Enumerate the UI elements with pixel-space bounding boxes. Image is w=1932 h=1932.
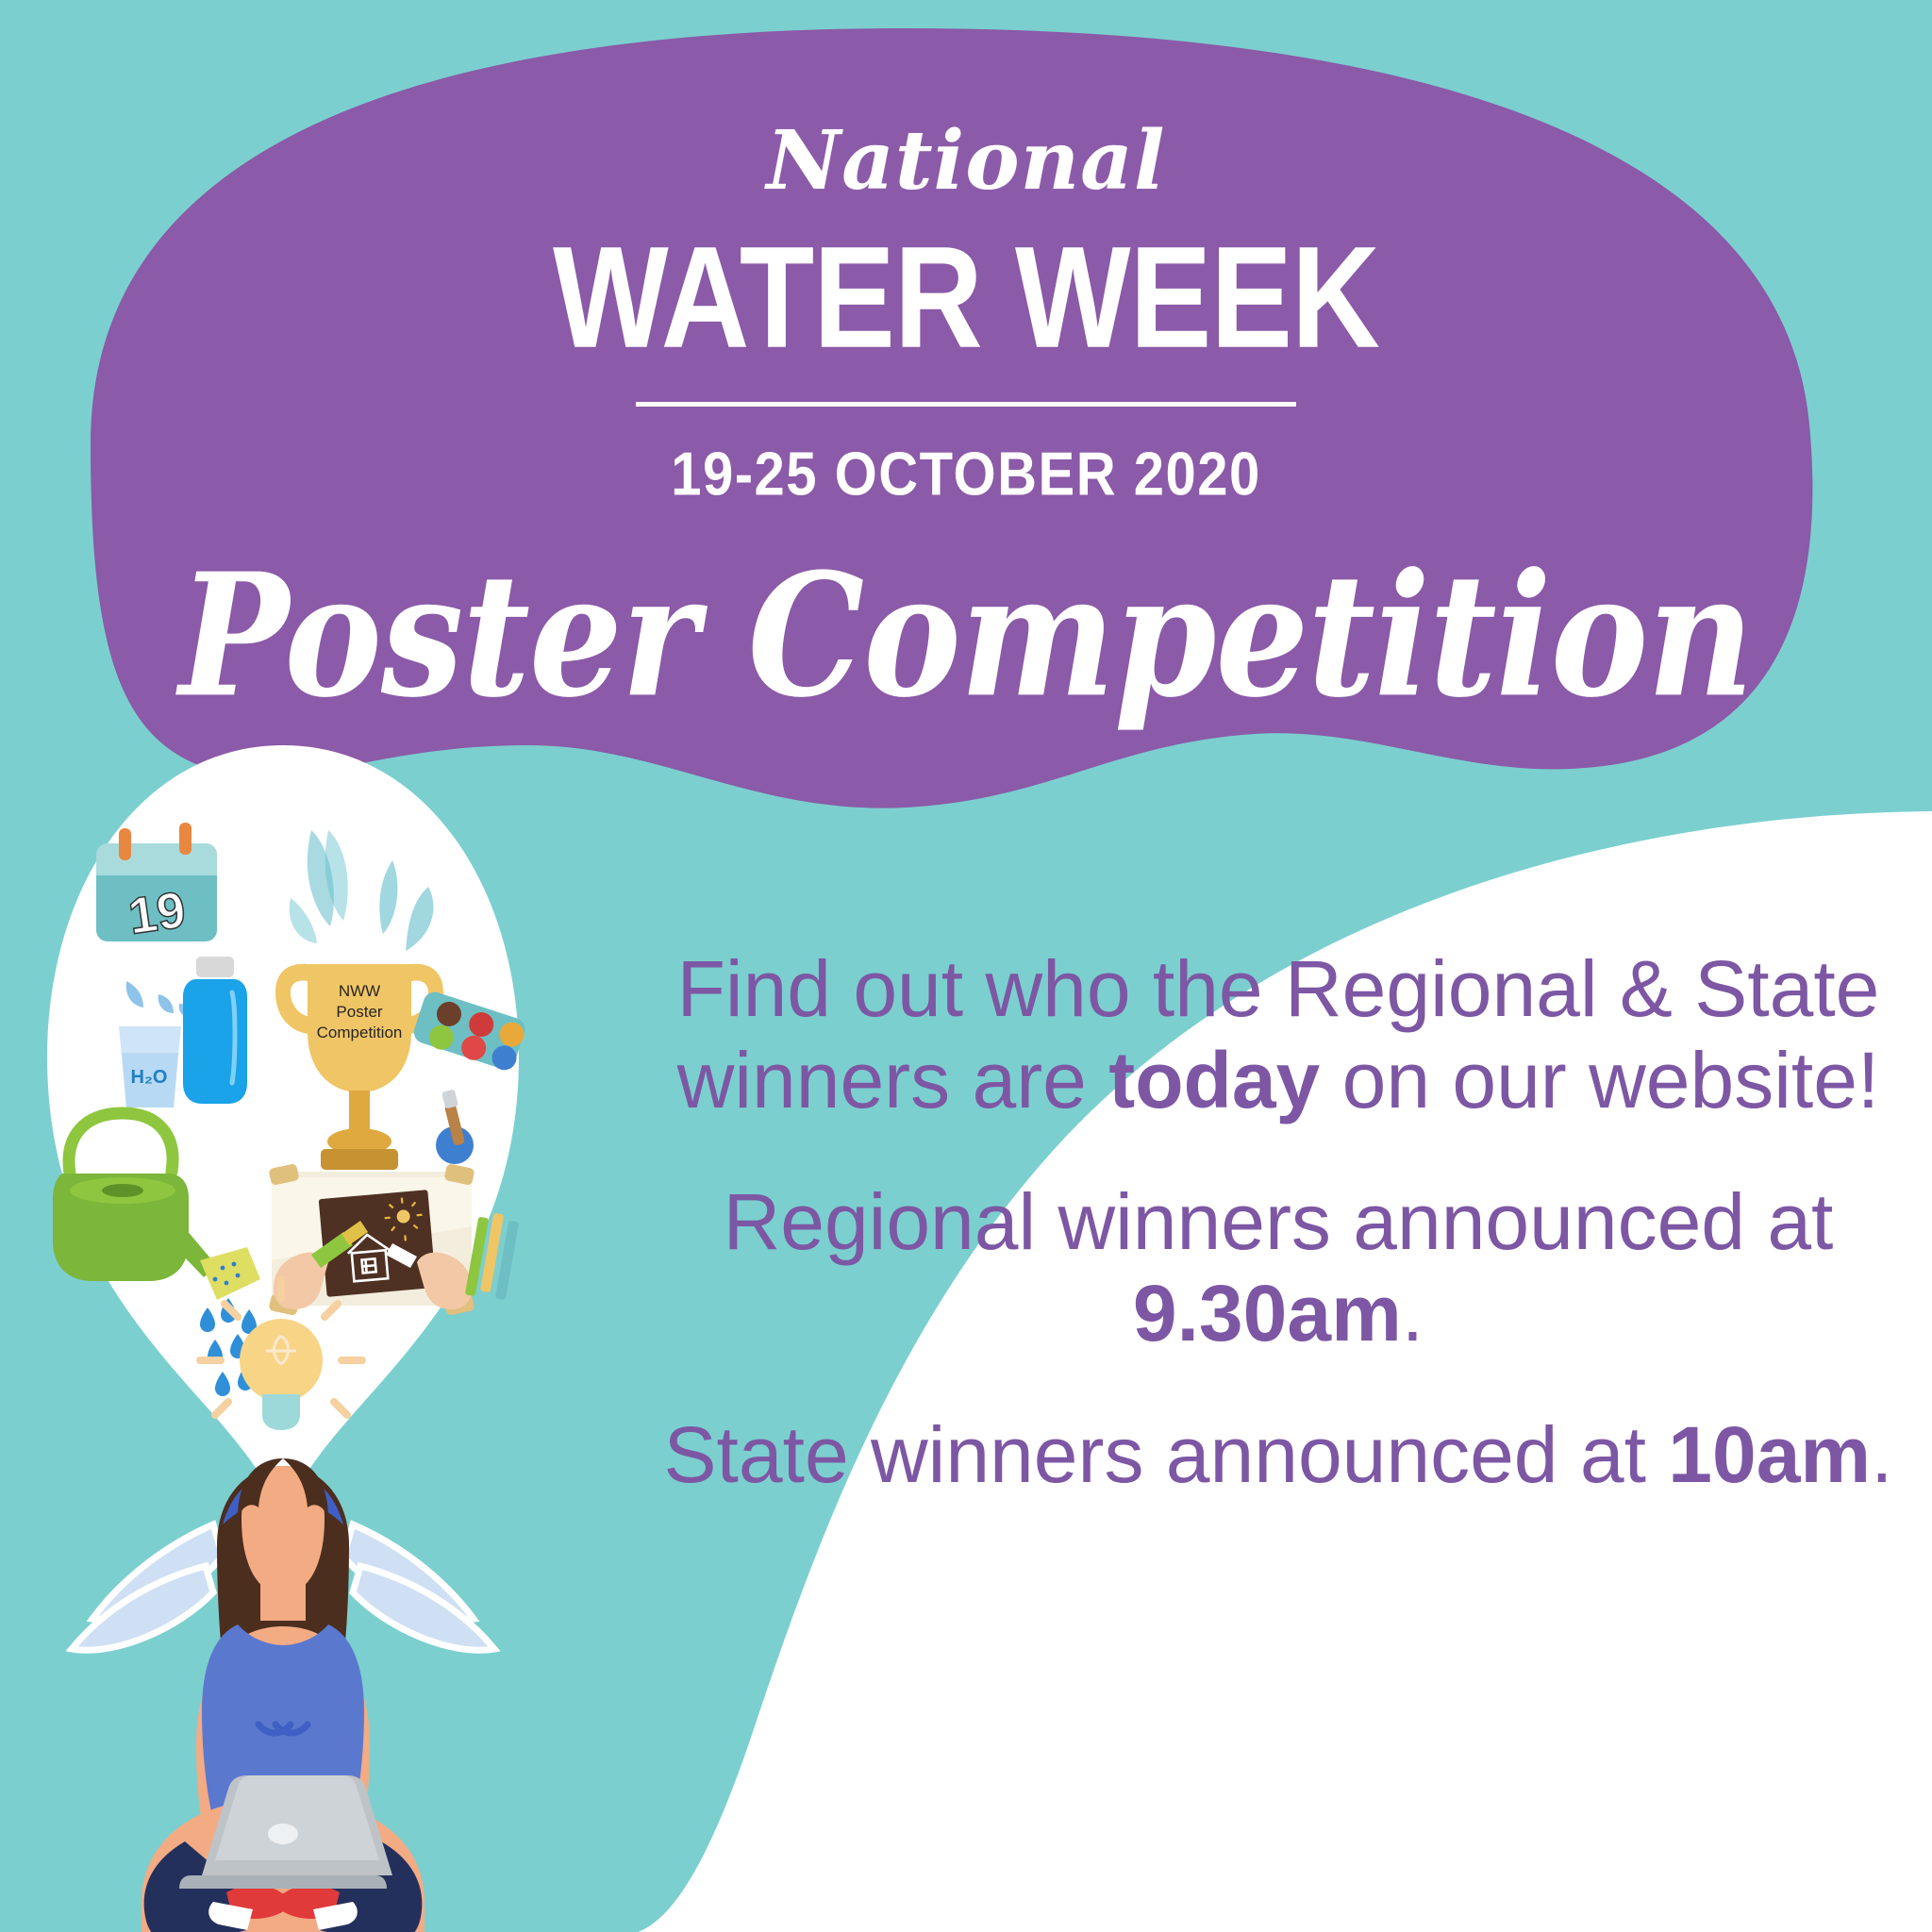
trophy-line-3: Competition xyxy=(317,1024,403,1041)
calendar-day-label: 19 xyxy=(125,881,189,945)
announcement-line-3: State winners announced at 10am. xyxy=(660,1409,1896,1501)
line3-emphasis: 10am xyxy=(1668,1410,1871,1499)
line1-emphasis: today xyxy=(1108,1036,1320,1124)
header-eyebrow: National xyxy=(0,121,1932,202)
header-text-block: National WATER WEEK 19-25 OCTOBER 2020 P… xyxy=(0,0,1932,702)
header-subtitle: Poster Competition xyxy=(29,551,1904,720)
poster-canvas: National WATER WEEK 19-25 OCTOBER 2020 P… xyxy=(0,0,1932,1932)
girl-with-laptop-icon xyxy=(142,1458,425,1932)
girl-thought-bubble-illustration: 19 NWW Poster Competition xyxy=(28,726,538,1932)
page-title: WATER WEEK xyxy=(0,225,1932,369)
announcement-line-1: Find out who the Regional & State winner… xyxy=(660,943,1896,1127)
line2-part1: Regional winners announced at xyxy=(724,1177,1834,1266)
water-glass-label: H₂O xyxy=(131,1067,168,1088)
header-divider xyxy=(636,402,1296,407)
header-dates: 19-25 OCTOBER 2020 xyxy=(0,439,1932,509)
announcement-line-2: Regional winners announced at 9.30am. xyxy=(660,1176,1896,1360)
announcement-text-block: Find out who the Regional & State winner… xyxy=(660,943,1896,1501)
line2-part2: . xyxy=(1402,1269,1424,1357)
line2-emphasis: 9.30am xyxy=(1133,1269,1402,1357)
line3-part1: State winners announced at xyxy=(664,1410,1669,1499)
drawing-canvas-icon xyxy=(268,1163,475,1316)
line1-part2: on our website! xyxy=(1320,1036,1879,1124)
line3-part2: . xyxy=(1871,1410,1892,1499)
trophy-line-2: Poster xyxy=(336,1003,382,1021)
trophy-line-1: NWW xyxy=(339,982,380,1000)
